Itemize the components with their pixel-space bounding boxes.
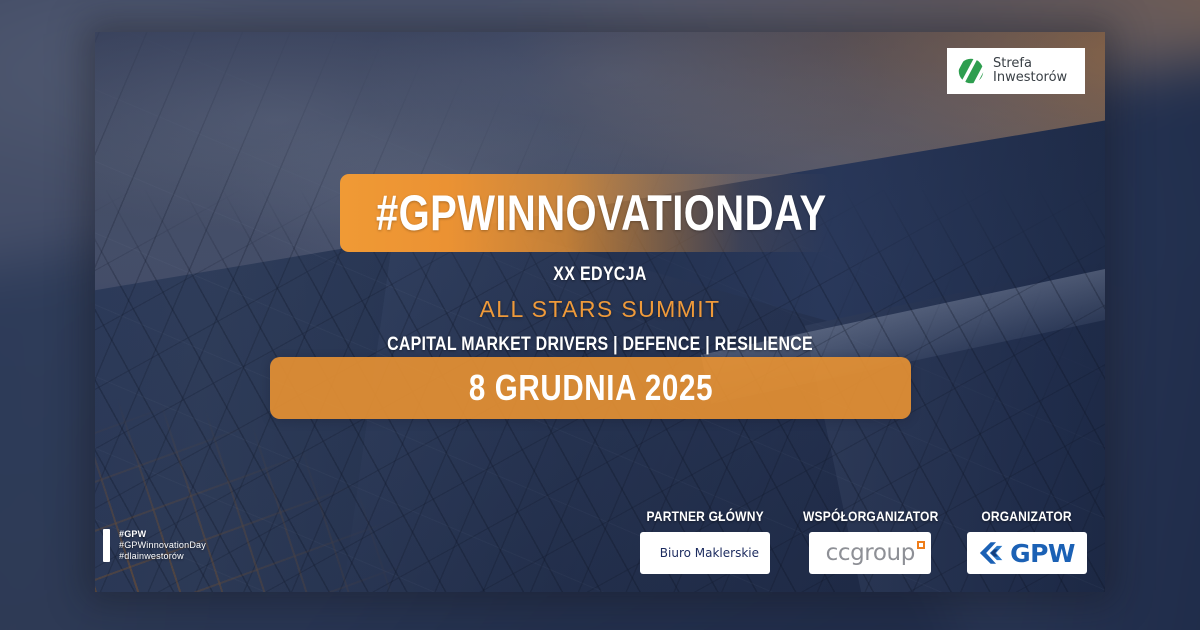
sponsor-row: PARTNER GŁÓWNY PKO Biuro Maklerskie WSPÓ… (637, 508, 1087, 574)
hashtag-gpw: #GPW (119, 529, 206, 540)
hashtag-lines: #GPW #GPWinnovationDay #dlainwestorów (119, 529, 206, 562)
date-banner: 8 GRUDNIA 2025 (270, 357, 911, 419)
page-title: #GPWINNOVATIONDAY (340, 174, 788, 252)
badge-line-2: Inwestorów (993, 71, 1067, 85)
pko-logo-text: Biuro Maklerskie (660, 546, 759, 560)
strefa-inwestorow-logo-icon (957, 57, 985, 85)
tagline-label: CAPITAL MARKET DRIVERS | DEFENCE | RESIL… (176, 334, 1024, 356)
sponsor-label-partner: PARTNER GŁÓWNY (647, 508, 764, 524)
hashtag-innovationday: #GPWinnovationDay (119, 540, 206, 551)
sponsor-label-organizator: ORGANIZATOR (982, 508, 1072, 524)
sponsor-organizator: ORGANIZATOR GPW (967, 508, 1087, 574)
sponsor-partner-glowny: PARTNER GŁÓWNY PKO Biuro Maklerskie (637, 508, 773, 574)
strefa-inwestorow-badge[interactable]: Strefa Inwestorów (947, 48, 1085, 94)
gpw-logo-text: GPW (1010, 539, 1075, 568)
edition-label: XX EDYCJA (176, 264, 1024, 286)
gpw-mark-icon (979, 540, 1004, 566)
gpw-logo[interactable]: GPW (967, 532, 1087, 574)
subtitle-block: XX EDYCJA ALL STARS SUMMIT CAPITAL MARKE… (95, 264, 1105, 356)
ccgroup-square-icon (917, 541, 925, 549)
summit-label: ALL STARS SUMMIT (95, 296, 1105, 323)
sponsor-wspolorganizator: WSPÓŁORGANIZATOR ccgroup (792, 508, 949, 574)
ccgroup-wordmark: ccgroup (826, 540, 915, 566)
ccgroup-logo[interactable]: ccgroup (809, 532, 931, 574)
ccgroup-logo-text: ccgroup (826, 540, 915, 566)
poster-card: Strefa Inwestorów #GPWINNOVATIONDAY XX E… (95, 32, 1105, 592)
strefa-inwestorow-text: Strefa Inwestorów (993, 57, 1067, 85)
hashtag-block: #GPW #GPWinnovationDay #dlainwestorów (103, 529, 206, 562)
pko-biuro-maklerskie-logo[interactable]: PKO Biuro Maklerskie (640, 532, 770, 574)
hashtag-accent-bar (103, 529, 110, 562)
poster-stage: Strefa Inwestorów #GPWINNOVATIONDAY XX E… (0, 0, 1200, 630)
hashtag-dlainwestorow: #dlainwestorów (119, 551, 206, 562)
event-date: 8 GRUDNIA 2025 (468, 367, 712, 409)
sponsor-label-wspolorganizator: WSPÓŁORGANIZATOR (803, 508, 938, 524)
badge-line-1: Strefa (993, 57, 1067, 71)
